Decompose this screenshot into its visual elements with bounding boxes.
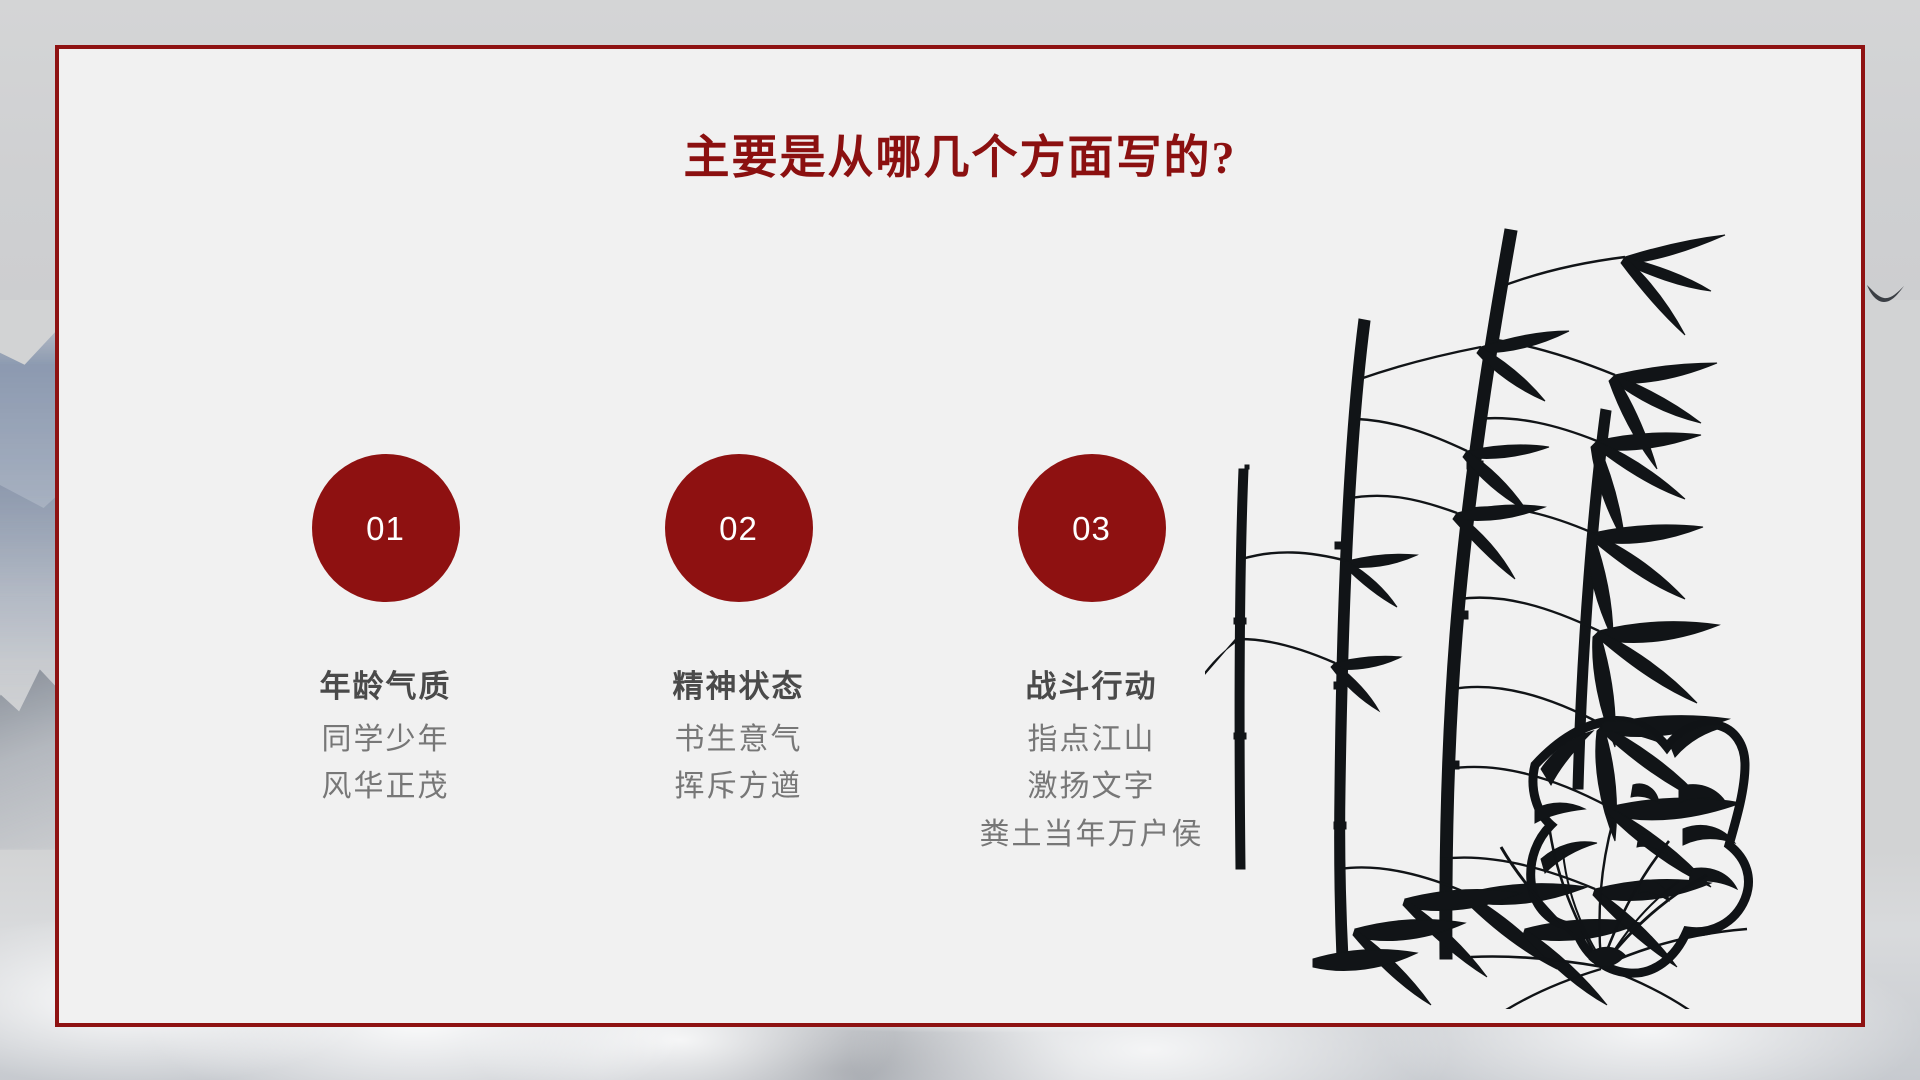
slide-root: 主要是从哪几个方面写的? 01 年龄气质 同学少年 风华正茂 02 精神状态 书… [0,0,1920,1080]
topic-column-1[interactable]: 01 年龄气质 同学少年 风华正茂 [209,454,562,856]
bird-icon [1866,282,1906,304]
topic-number-badge-1[interactable]: 01 [312,454,460,602]
topic-heading-3: 战斗行动 [1026,666,1158,708]
topics-row: 01 年龄气质 同学少年 风华正茂 02 精神状态 书生意气 挥斥方遒 03 战 [209,454,1269,856]
topic-heading-2: 精神状态 [673,666,805,708]
topic-line: 粪土当年万户侯 [980,813,1204,857]
page-title: 主要是从哪几个方面写的? [59,121,1861,187]
topic-heading-1: 年龄气质 [320,666,452,708]
bamboo-painting-icon [1205,169,1825,1009]
topic-line: 书生意气 [675,718,803,762]
topic-line: 激扬文字 [980,765,1204,809]
topic-number-badge-2[interactable]: 02 [665,454,813,602]
topic-lines-2: 书生意气 挥斥方遒 [675,714,803,809]
topic-lines-1: 同学少年 风华正茂 [322,714,450,809]
topic-line: 指点江山 [980,718,1204,762]
topic-number-badge-3[interactable]: 03 [1018,454,1166,602]
topic-line: 风华正茂 [322,765,450,809]
topic-column-3[interactable]: 03 战斗行动 指点江山 激扬文字 粪土当年万户侯 [915,454,1268,856]
topic-lines-3: 指点江山 激扬文字 粪土当年万户侯 [980,714,1204,857]
topic-line: 挥斥方遒 [675,765,803,809]
topic-column-2[interactable]: 02 精神状态 书生意气 挥斥方遒 [562,454,915,856]
topic-line: 同学少年 [322,718,450,762]
content-card: 主要是从哪几个方面写的? 01 年龄气质 同学少年 风华正茂 02 精神状态 书… [55,45,1865,1027]
